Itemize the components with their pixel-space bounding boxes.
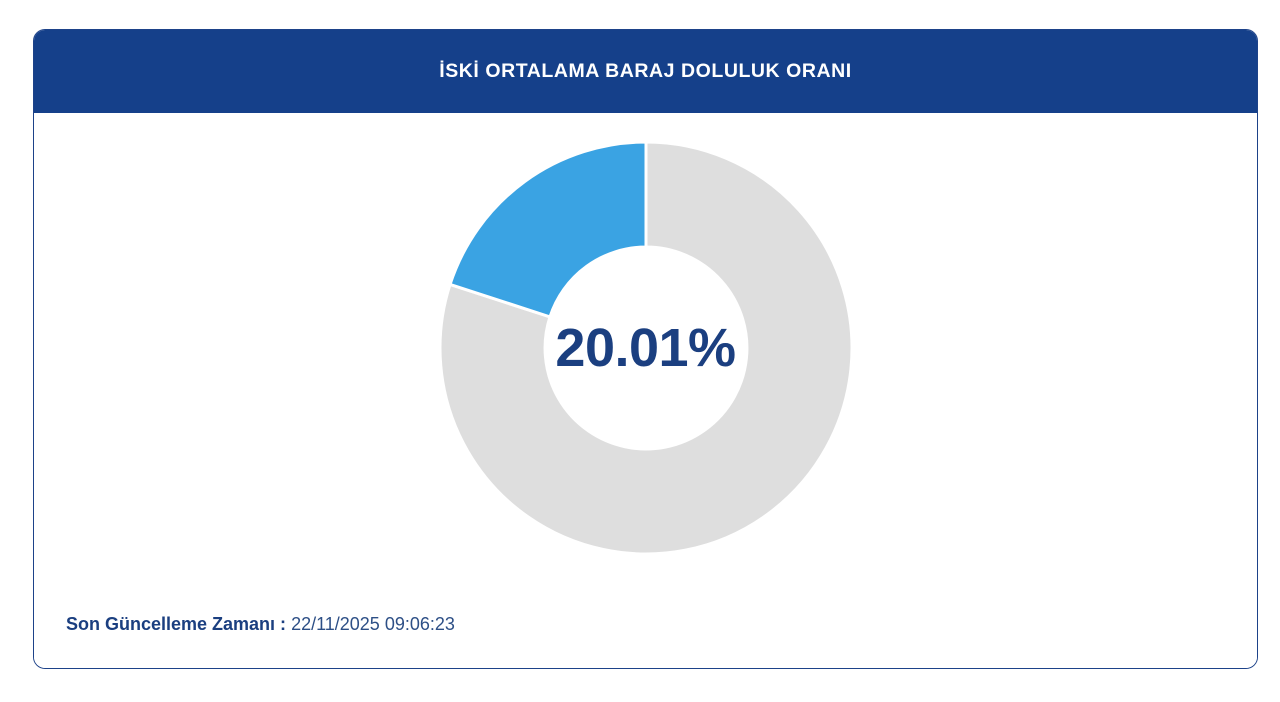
page-root: İSKİ ORTALAMA BARAJ DOLULUK ORANI 20.01%… xyxy=(0,0,1280,702)
last-update-line: Son Güncelleme Zamanı : 22/11/2025 09:06… xyxy=(66,614,455,636)
dam-occupancy-card: İSKİ ORTALAMA BARAJ DOLULUK ORANI 20.01%… xyxy=(33,29,1258,669)
card-body: 20.01% Son Güncelleme Zamanı : 22/11/202… xyxy=(34,113,1257,668)
card-header: İSKİ ORTALAMA BARAJ DOLULUK ORANI xyxy=(34,30,1257,113)
page-title: İSKİ ORTALAMA BARAJ DOLULUK ORANI xyxy=(439,60,851,83)
donut-slice-filled[interactable] xyxy=(450,142,646,317)
donut-chart-svg xyxy=(440,142,852,554)
last-update-label: Son Güncelleme Zamanı : xyxy=(66,614,291,634)
donut-chart: 20.01% xyxy=(440,142,852,554)
last-update-value: 22/11/2025 09:06:23 xyxy=(291,614,455,634)
chart-area: 20.01% xyxy=(34,113,1257,583)
